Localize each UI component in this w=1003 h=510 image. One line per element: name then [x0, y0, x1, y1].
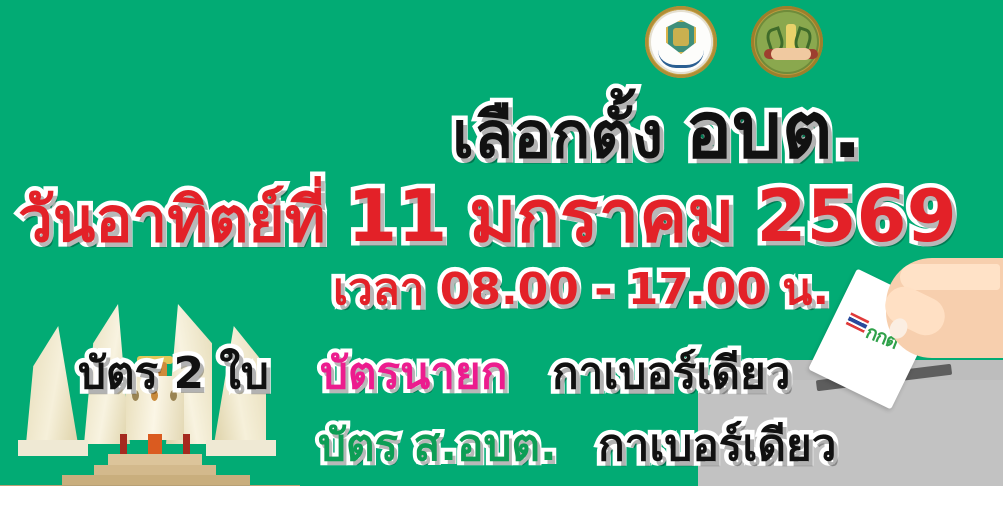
date-year: 2569 [756, 174, 956, 258]
date-day: 11 [347, 174, 447, 258]
title-prefix: เลือกตั้ง [452, 99, 663, 173]
ballot-count-label: บัตร 2 ใบ [78, 352, 269, 396]
ministry-seal-face [649, 10, 713, 74]
bottom-white-strip [0, 486, 1003, 510]
date-prefix: วันอาทิตย์ที่ [18, 183, 326, 256]
hand-highlight [900, 264, 1000, 290]
ministry-seal-crest [666, 20, 696, 54]
monument-wing-base-right [206, 440, 276, 456]
ministry-seal-text-arc [658, 50, 704, 68]
title-emphasis: อบต. [685, 86, 862, 176]
monument-wing-outer-left [26, 326, 78, 444]
election-date: วันอาทิตย์ที่ 11 มกราคม 2569 [18, 180, 957, 252]
mayor-ballot-label: บัตรนายก [320, 352, 507, 396]
council-ballot-label: บัตร ส.อบต. [318, 424, 557, 468]
ministry-seal [645, 6, 717, 78]
date-month: มกราคม [469, 174, 735, 258]
election-poster: กกต เลือกตั้ง อบต. วันอาทิตย์ที่ 11 มกรา… [0, 0, 1003, 510]
mayor-ballot-instruction: กาเบอร์เดียว [552, 352, 790, 396]
seals-row [645, 6, 825, 78]
local-administration-seal [751, 6, 823, 78]
seal-handshake-icon [771, 48, 811, 60]
council-ballot-instruction: กาเบอร์เดียว [598, 424, 836, 468]
election-time: เวลา 08.00 - 17.00 น. [333, 268, 829, 312]
local-administration-seal-face [755, 10, 819, 74]
page-title: เลือกตั้ง อบต. [452, 92, 862, 170]
thai-flag-icon [846, 312, 870, 332]
monument-wing-base-left [18, 440, 88, 456]
